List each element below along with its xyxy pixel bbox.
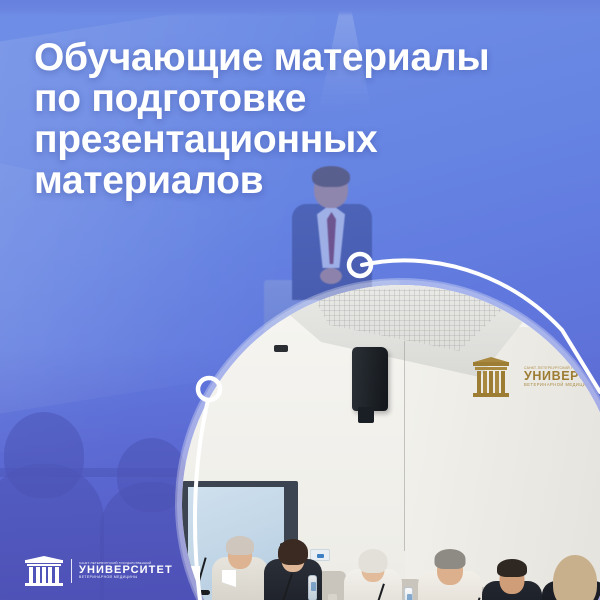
logo-divider	[71, 559, 72, 583]
participant	[212, 539, 268, 600]
brand-line-bottom: ВЕТЕРИНАРНОЙ МЕДИЦИНЫ	[79, 576, 173, 579]
brand-logo-text: САНКТ-ПЕТЕРБУРГСКИЙ ГОСУДАРСТВЕННЫЙ УНИВ…	[79, 562, 173, 579]
spbgavm-logo: САНКТ-ПЕТЕРБУРГСКИЙ ГОСУДАРСТВЕННЫЙ УНИВ…	[24, 556, 173, 586]
colonnade-icon	[472, 357, 510, 397]
participant	[542, 559, 600, 600]
participant	[344, 551, 402, 600]
poster-canvas: Обучающие материалы по подготовке презен…	[0, 0, 600, 600]
wall-logo-line-bottom: ВЕТЕРИНАРНОЙ МЕДИЦИНЫ	[524, 383, 600, 387]
ceiling-camera	[274, 345, 288, 352]
water-bottle	[404, 587, 413, 600]
microphone-base	[194, 590, 210, 595]
participant	[482, 561, 542, 600]
conference-room-photo: САНКТ-ПЕТЕРБУРГСКИЙ ГОСУДАРСТВЕННЫЙ УНИВ…	[182, 285, 600, 600]
wall-speaker	[352, 347, 388, 411]
spbgavm-wall-logo: САНКТ-ПЕТЕРБУРГСКИЙ ГОСУДАРСТВЕННЫЙ УНИВ…	[472, 351, 600, 403]
wall-corner-edge	[404, 341, 405, 551]
participant-hair	[497, 559, 527, 577]
ghost-hand	[320, 268, 342, 284]
photo-scene: САНКТ-ПЕТЕРБУРГСКИЙ ГОСУДАРСТВЕННЫЙ УНИВ…	[182, 285, 600, 600]
wall-logo-text: САНКТ-ПЕТЕРБУРГСКИЙ ГОСУДАРСТВЕННЫЙ УНИВ…	[524, 367, 600, 387]
paper-cup	[328, 594, 337, 600]
participant-hair	[435, 549, 466, 569]
participant-hair	[553, 555, 597, 600]
background-top-band	[0, 0, 600, 16]
participant-hair	[359, 549, 388, 573]
brand-line-top: САНКТ-ПЕТЕРБУРГСКИЙ ГОСУДАРСТВЕННЫЙ	[79, 562, 173, 565]
participant-hair	[278, 539, 308, 565]
page-title: Обучающие материалы по подготовке презен…	[34, 38, 582, 202]
colonnade-icon	[24, 556, 64, 586]
water-bottle	[308, 575, 317, 600]
participant-hair	[226, 536, 254, 555]
participant	[418, 551, 482, 600]
